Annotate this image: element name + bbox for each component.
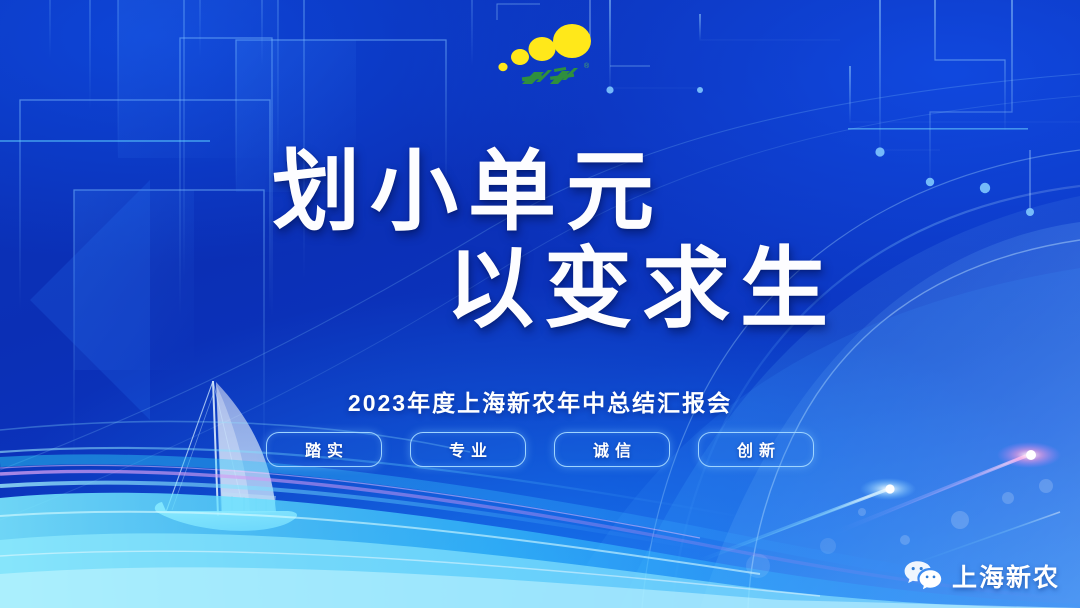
wechat-account-footer: 上海新农 [903, 558, 1060, 594]
value-tag-0: 踏实 [266, 432, 382, 467]
poster-canvas: ® 划小单元 以变求生 2023年度上海新农年中总结汇报会 踏实 专业 诚信 创… [0, 0, 1080, 608]
value-tag-list: 踏实 专业 诚信 创新 [0, 432, 1080, 467]
value-tag-1: 专业 [410, 432, 526, 467]
event-subtitle: 2023年度上海新农年中总结汇报会 [0, 384, 1080, 418]
logo-registered-mark: ® [584, 62, 590, 70]
wechat-icon [903, 559, 943, 593]
wechat-account-name: 上海新农 [952, 558, 1060, 594]
logo-wordmark [522, 67, 578, 84]
logo-dots [498, 24, 591, 71]
value-tag-3: 创新 [698, 432, 814, 467]
value-tag-2: 诚信 [554, 432, 670, 467]
xinnong-logo: ® [492, 18, 602, 96]
